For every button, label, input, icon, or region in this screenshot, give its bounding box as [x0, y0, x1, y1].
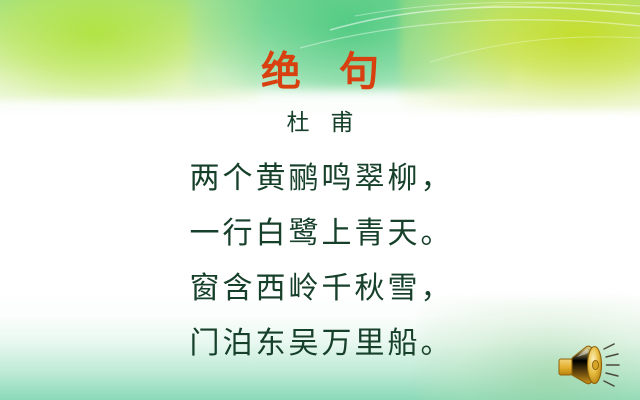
poem-line: 门泊东吴万里船。: [187, 316, 454, 371]
poem-line: 两个黄鹂鸣翠柳，: [187, 151, 454, 206]
speaker-icon[interactable]: [556, 340, 628, 392]
poem-author: 杜 甫: [280, 112, 361, 135]
poem-title: 绝 句: [249, 52, 391, 92]
poem-body: 两个黄鹂鸣翠柳， 一行白鹭上青天。 窗含西岭千秋雪， 门泊东吴万里船。: [187, 151, 454, 371]
poem-line: 一行白鹭上青天。: [187, 206, 454, 261]
poem-line: 窗含西岭千秋雪，: [187, 261, 454, 316]
presentation-slide: 绝 句 杜 甫 两个黄鹂鸣翠柳， 一行白鹭上青天。 窗含西岭千秋雪， 门泊东吴万…: [0, 0, 640, 400]
slide-content: 绝 句 杜 甫 两个黄鹂鸣翠柳， 一行白鹭上青天。 窗含西岭千秋雪， 门泊东吴万…: [0, 0, 640, 400]
